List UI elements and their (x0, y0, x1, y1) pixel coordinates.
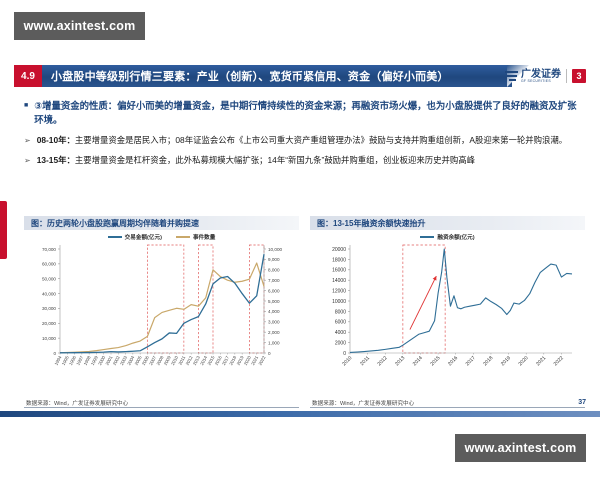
svg-text:2020: 2020 (517, 355, 529, 367)
svg-text:2013: 2013 (394, 355, 406, 367)
svg-text:12000: 12000 (332, 289, 346, 295)
svg-text:20,000: 20,000 (42, 321, 56, 326)
square-bullet-icon: ■ (24, 99, 28, 127)
svg-text:2015: 2015 (429, 355, 441, 367)
chart-caption-right: 图：13-15年融资余额快速抬升 (310, 216, 585, 230)
bullet-sub-2: ➢ 13-15年：主要增量资金是杠杆资金，此外私募规模大幅扩张；14年“新国九条… (24, 154, 584, 167)
legend-swatch-1 (176, 236, 190, 238)
svg-text:50,000: 50,000 (42, 277, 56, 282)
svg-text:60,000: 60,000 (42, 262, 56, 267)
gf-logo-icon (505, 71, 518, 82)
svg-text:30,000: 30,000 (42, 306, 56, 311)
svg-text:0: 0 (268, 351, 271, 356)
svg-text:2018: 2018 (482, 355, 494, 367)
svg-text:10000: 10000 (332, 299, 346, 305)
svg-text:8,000: 8,000 (268, 268, 280, 273)
bullet-sub-1: ➢ 08-10年：主要增量资金是居民入市；08年证监会公布《上市公司重大资产重组… (24, 134, 584, 147)
svg-text:0: 0 (53, 351, 56, 356)
source-rule-left (24, 407, 299, 408)
legend-label-0: 融资余额(亿元) (437, 233, 474, 241)
arrow-bullet-icon: ➢ (24, 134, 31, 147)
watermark-bottom: www.axintest.com (455, 434, 586, 462)
chart-left-legend: 交易金额(亿元) 事件数量 (24, 233, 299, 241)
legend-swatch-0 (108, 236, 122, 238)
svg-text:10,000: 10,000 (268, 247, 282, 252)
svg-text:2014: 2014 (412, 355, 424, 367)
svg-text:6,000: 6,000 (268, 288, 280, 293)
svg-text:70,000: 70,000 (42, 247, 56, 252)
bullet-sub-1-text: 08-10年：主要增量资金是居民入市；08年证监会公布《上市公司重大资产重组管理… (37, 134, 567, 147)
svg-text:2022: 2022 (257, 355, 266, 366)
svg-text:2017: 2017 (465, 355, 477, 367)
page-title: 小盘股中等级别行情三要素：产业（创新）、宽货币紧信用、资金（偏好小而美） (42, 65, 512, 87)
chart-right-svg: 0200040006000800010000120001400016000180… (310, 231, 585, 395)
svg-text:8000: 8000 (335, 309, 346, 315)
chart-left-svg: 010,00020,00030,00040,00050,00060,00070,… (24, 231, 299, 395)
svg-text:18000: 18000 (332, 257, 346, 263)
bullet-sub-1-label: 08-10年： (37, 135, 75, 145)
logo-name-cn: 广发证券 (521, 70, 561, 79)
arrow-bullet-icon: ➢ (24, 154, 31, 167)
chart-panel-right: 融资余额(亿元) 0200040006000800010000120001400… (310, 231, 585, 395)
svg-text:4,000: 4,000 (268, 309, 280, 314)
bullet-sub-1-body: 主要增量资金是居民入市；08年证监会公布《上市公司重大资产重组管理办法》鼓励与支… (75, 135, 567, 145)
slide-title-bar: 4.9 小盘股中等级别行情三要素：产业（创新）、宽货币紧信用、资金（偏好小而美）… (14, 65, 586, 87)
legend-label-0: 交易金额(亿元) (125, 233, 162, 241)
svg-text:2000: 2000 (335, 341, 346, 347)
bullet-sub-2-text: 13-15年：主要增量资金是杠杆资金，此外私募规模大幅扩张；14年“新国九条”鼓… (37, 154, 475, 167)
svg-text:7,000: 7,000 (268, 278, 280, 283)
logo-badge-icon: 3 (572, 69, 586, 83)
svg-text:2,000: 2,000 (268, 330, 280, 335)
legend-item-0: 融资余额(亿元) (420, 233, 474, 241)
legend-swatch-0 (420, 236, 434, 238)
bullet-sub-2-body: 主要增量资金是杠杆资金，此外私募规模大幅扩张；14年“新国九条”鼓励并购重组，创… (75, 155, 475, 165)
svg-text:0: 0 (343, 351, 346, 357)
content-bullets: ■ ③增量资金的性质：偏好小而美的增量资金，是中期行情持续性的资金来源；再融资市… (24, 99, 584, 167)
legend-item-0: 交易金额(亿元) (108, 233, 162, 241)
source-rule-right (310, 407, 585, 408)
svg-text:2012: 2012 (377, 355, 389, 367)
svg-text:2016: 2016 (447, 355, 459, 367)
svg-text:3,000: 3,000 (268, 320, 280, 325)
svg-text:5,000: 5,000 (268, 299, 280, 304)
chart-right-legend: 融资余额(亿元) (310, 233, 585, 241)
bullet-primary: ■ ③增量资金的性质：偏好小而美的增量资金，是中期行情持续性的资金来源；再融资市… (24, 99, 584, 127)
brand-logo: 广发证券 GF SECURITIES 3 (505, 65, 586, 87)
page-number: 37 (578, 399, 586, 406)
svg-text:4000: 4000 (335, 330, 346, 336)
svg-text:9,000: 9,000 (268, 257, 280, 262)
chart-right-source: 数据来源：Wind，广发证券发展研究中心 (312, 399, 414, 407)
svg-text:6000: 6000 (335, 320, 346, 326)
svg-text:10,000: 10,000 (42, 336, 56, 341)
svg-text:14000: 14000 (332, 278, 346, 284)
svg-text:16000: 16000 (332, 268, 346, 274)
slide-canvas: 4.9 小盘股中等级别行情三要素：产业（创新）、宽货币紧信用、资金（偏好小而美）… (0, 55, 600, 420)
svg-text:2022: 2022 (553, 355, 565, 367)
svg-text:2021: 2021 (535, 355, 547, 367)
chart-panel-left: 交易金额(亿元) 事件数量 010,00020,00030,00040,0005… (24, 231, 299, 395)
svg-text:1,000: 1,000 (268, 340, 280, 345)
svg-text:20000: 20000 (332, 247, 346, 253)
chart-left-source: 数据来源：Wind，广发证券发展研究中心 (26, 399, 128, 407)
chart-caption-left: 图：历史两轮小盘股跑赢周期均伴随着并购提速 (24, 216, 299, 230)
legend-label-1: 事件数量 (193, 233, 215, 241)
bullet-sub-2-label: 13-15年： (37, 155, 75, 165)
footer-band (0, 411, 600, 417)
svg-text:2011: 2011 (359, 355, 371, 367)
slide-number-badge: 4.9 (14, 65, 42, 87)
bullet-primary-text: ③增量资金的性质：偏好小而美的增量资金，是中期行情持续性的资金来源；再融资市场火… (34, 99, 584, 127)
svg-text:2019: 2019 (500, 355, 512, 367)
legend-item-1: 事件数量 (176, 233, 215, 241)
watermark-top: www.axintest.com (14, 12, 145, 40)
svg-text:40,000: 40,000 (42, 291, 56, 296)
logo-divider (566, 69, 567, 83)
red-edge-marker (0, 201, 7, 259)
